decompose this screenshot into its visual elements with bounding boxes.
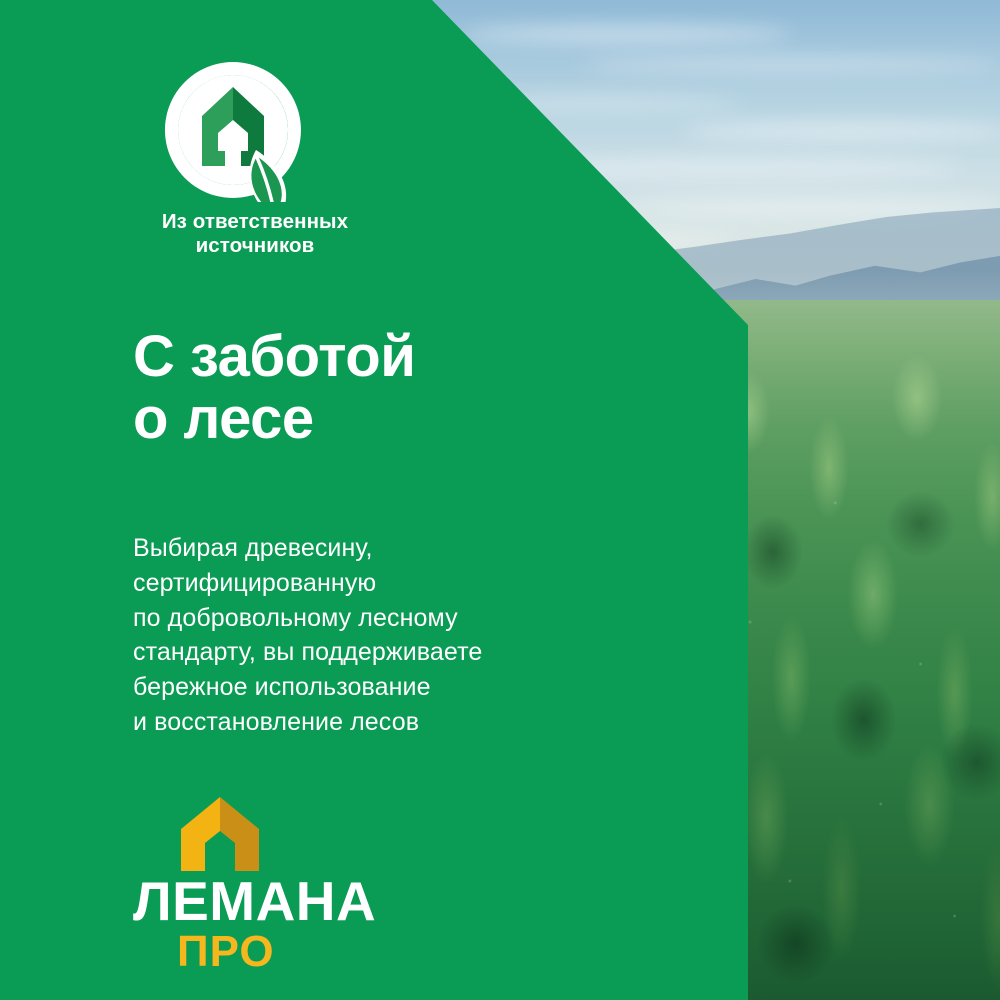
- body-paragraph: Выбирая древесину, сертифицированную по …: [133, 531, 482, 740]
- brand-logo: ЛЕМАНА ПРО: [133, 795, 373, 974]
- poster-root: Из ответственных источников С заботой о …: [0, 0, 1000, 1000]
- brand-subname: ПРО: [177, 930, 373, 974]
- eco-badge-caption: Из ответственных источников: [133, 210, 377, 258]
- lemana-pro-house-logo: [175, 795, 265, 873]
- page-title: С заботой о лесе: [133, 326, 415, 450]
- eco-responsible-sources-logo: [161, 58, 305, 202]
- poster-content: Из ответственных источников С заботой о …: [0, 0, 1000, 1000]
- eco-badge: Из ответственных источников: [133, 58, 433, 258]
- brand-name: ЛЕМАНА: [133, 875, 373, 928]
